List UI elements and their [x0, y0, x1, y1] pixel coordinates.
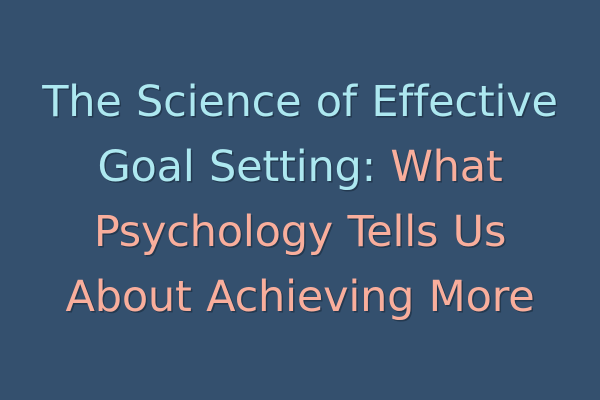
page-title: The Science of Effective Goal Setting: W…: [30, 70, 570, 330]
title-card: The Science of Effective Goal Setting: W…: [0, 0, 600, 400]
